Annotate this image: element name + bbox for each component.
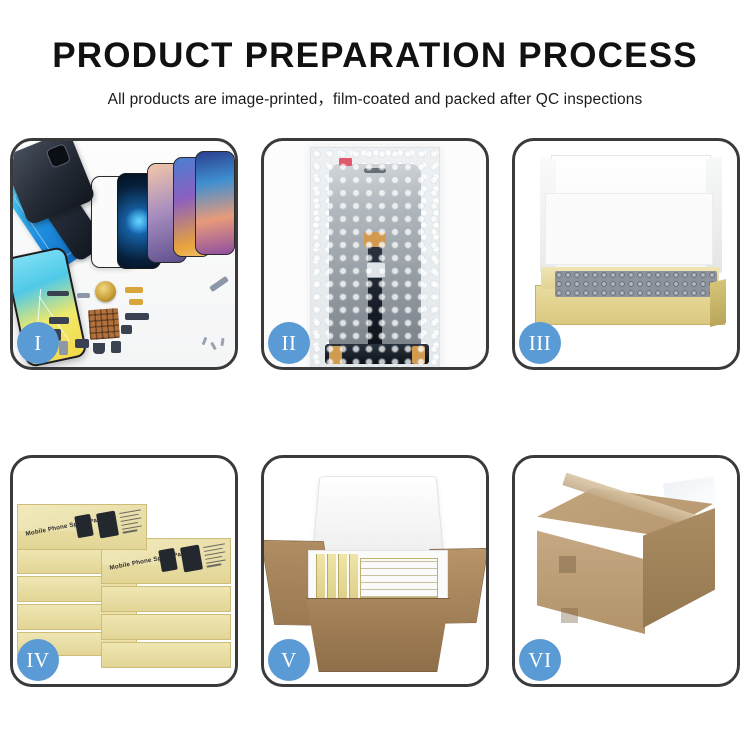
part-strip-g	[75, 339, 89, 348]
part-strip-a	[47, 291, 69, 296]
blue-gradient-phone	[195, 151, 235, 255]
chip-grid-part	[88, 308, 120, 340]
step-badge-6: VI	[519, 639, 561, 681]
step-card-2: II	[261, 138, 489, 370]
flex-cable-b	[129, 299, 143, 305]
kraft-box-tray	[535, 267, 725, 325]
page-subtitle: All products are image-printed，film-coat…	[0, 87, 750, 109]
step-badge-2: II	[268, 322, 310, 364]
styrofoam-lid	[312, 476, 444, 554]
step-badge-3: III	[519, 322, 561, 364]
screws-group	[203, 337, 229, 355]
dark-bubble-wrap-fill	[555, 271, 717, 297]
camera-module-icon	[45, 143, 71, 169]
step-card-6: VI	[512, 455, 740, 687]
speaker-part	[93, 343, 105, 354]
part-strip-h	[111, 341, 121, 353]
carton-handle-tab-top	[559, 556, 576, 573]
process-steps-grid: I II	[10, 138, 740, 690]
step-card-3: III	[512, 138, 740, 370]
tweezers-part	[209, 276, 229, 292]
battery-part	[59, 341, 68, 355]
box-spec-lines-left	[119, 509, 145, 536]
red-label-sticker	[339, 158, 352, 166]
carton-body	[300, 598, 456, 672]
box-spec-lines-right	[203, 543, 229, 570]
bubble-wrap-bag	[310, 147, 440, 367]
display-flex-cable	[368, 244, 382, 356]
part-strip-c	[49, 317, 69, 324]
step-card-1: I	[10, 138, 238, 370]
step-badge-1: I	[17, 322, 59, 364]
carton-front-face	[537, 524, 645, 634]
part-strip-b	[77, 293, 90, 298]
step-badge-5: V	[268, 639, 310, 681]
stacked-box-r4	[101, 614, 231, 640]
header: PRODUCT PREPARATION PROCESS All products…	[0, 0, 750, 109]
part-strip-e	[125, 313, 149, 320]
yellow-boxes-inside	[316, 554, 440, 600]
product-preparation-infographic: PRODUCT PREPARATION PROCESS All products…	[0, 0, 750, 750]
copper-coil-part	[95, 281, 116, 302]
connector-bar	[325, 344, 429, 364]
carton-handle-tab-bottom	[561, 608, 578, 623]
printed-box-top-left: Mobile Phone Spare Parts	[17, 504, 147, 550]
box-screen-art-r2	[180, 545, 203, 573]
stacked-box-r3	[101, 586, 231, 612]
foam-inner-panel	[545, 193, 713, 265]
flex-cable-a	[125, 287, 143, 293]
box-screen-art-l2	[96, 511, 119, 539]
part-strip-f	[121, 325, 132, 334]
box-side-panel	[710, 279, 726, 327]
step-card-5: V	[261, 455, 489, 687]
page-title: PRODUCT PREPARATION PROCESS	[0, 36, 750, 76]
box-rim	[541, 267, 719, 289]
step-card-4: Mobile Phone Spare Parts Mobile Phone Sp…	[10, 455, 238, 687]
stacked-box-r5	[101, 642, 231, 668]
step-badge-4: IV	[17, 639, 59, 681]
